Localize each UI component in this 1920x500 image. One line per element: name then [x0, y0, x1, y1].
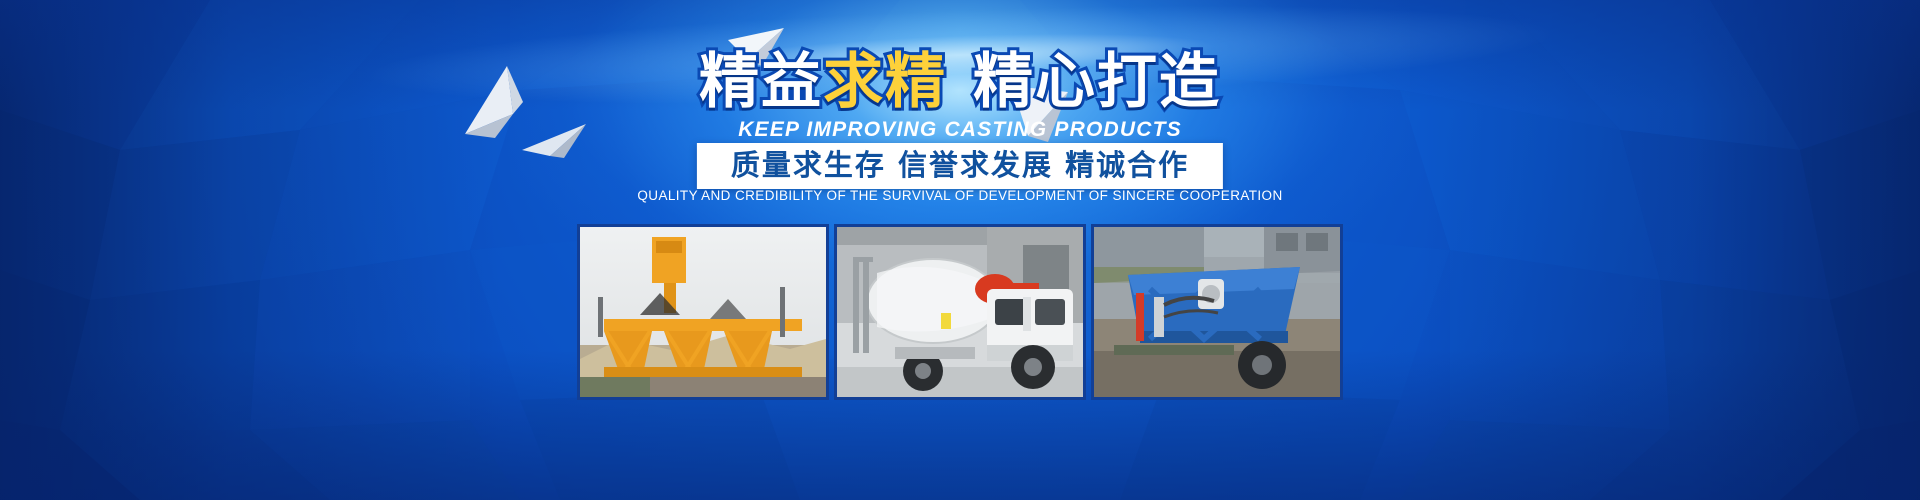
photo-strip [577, 224, 1343, 400]
slogan-bar-text: 质量求生存 信誉求发展 精诚合作 [731, 150, 1189, 180]
photo-concrete-batching-plant [577, 224, 829, 400]
headline: 精益求精精心打造 [0, 52, 1920, 112]
caption-english: QUALITY AND CREDIBILITY OF THE SURVIVAL … [0, 188, 1920, 203]
headline-part2-white: 精心打造 [973, 52, 1221, 112]
headline-part1-white: 精益 [699, 52, 823, 112]
promo-banner: 精益求精精心打造 KEEP IMPROVING CASTING PRODUCTS… [0, 0, 1920, 500]
photo-concrete-mixer-truck [834, 224, 1086, 400]
headline-part1-gold: 求精 [823, 52, 947, 112]
photo-blue-mixing-equipment [1091, 224, 1343, 400]
subtitle-english: KEEP IMPROVING CASTING PRODUCTS [0, 118, 1920, 142]
slogan-bar: 质量求生存 信誉求发展 精诚合作 [697, 143, 1223, 189]
